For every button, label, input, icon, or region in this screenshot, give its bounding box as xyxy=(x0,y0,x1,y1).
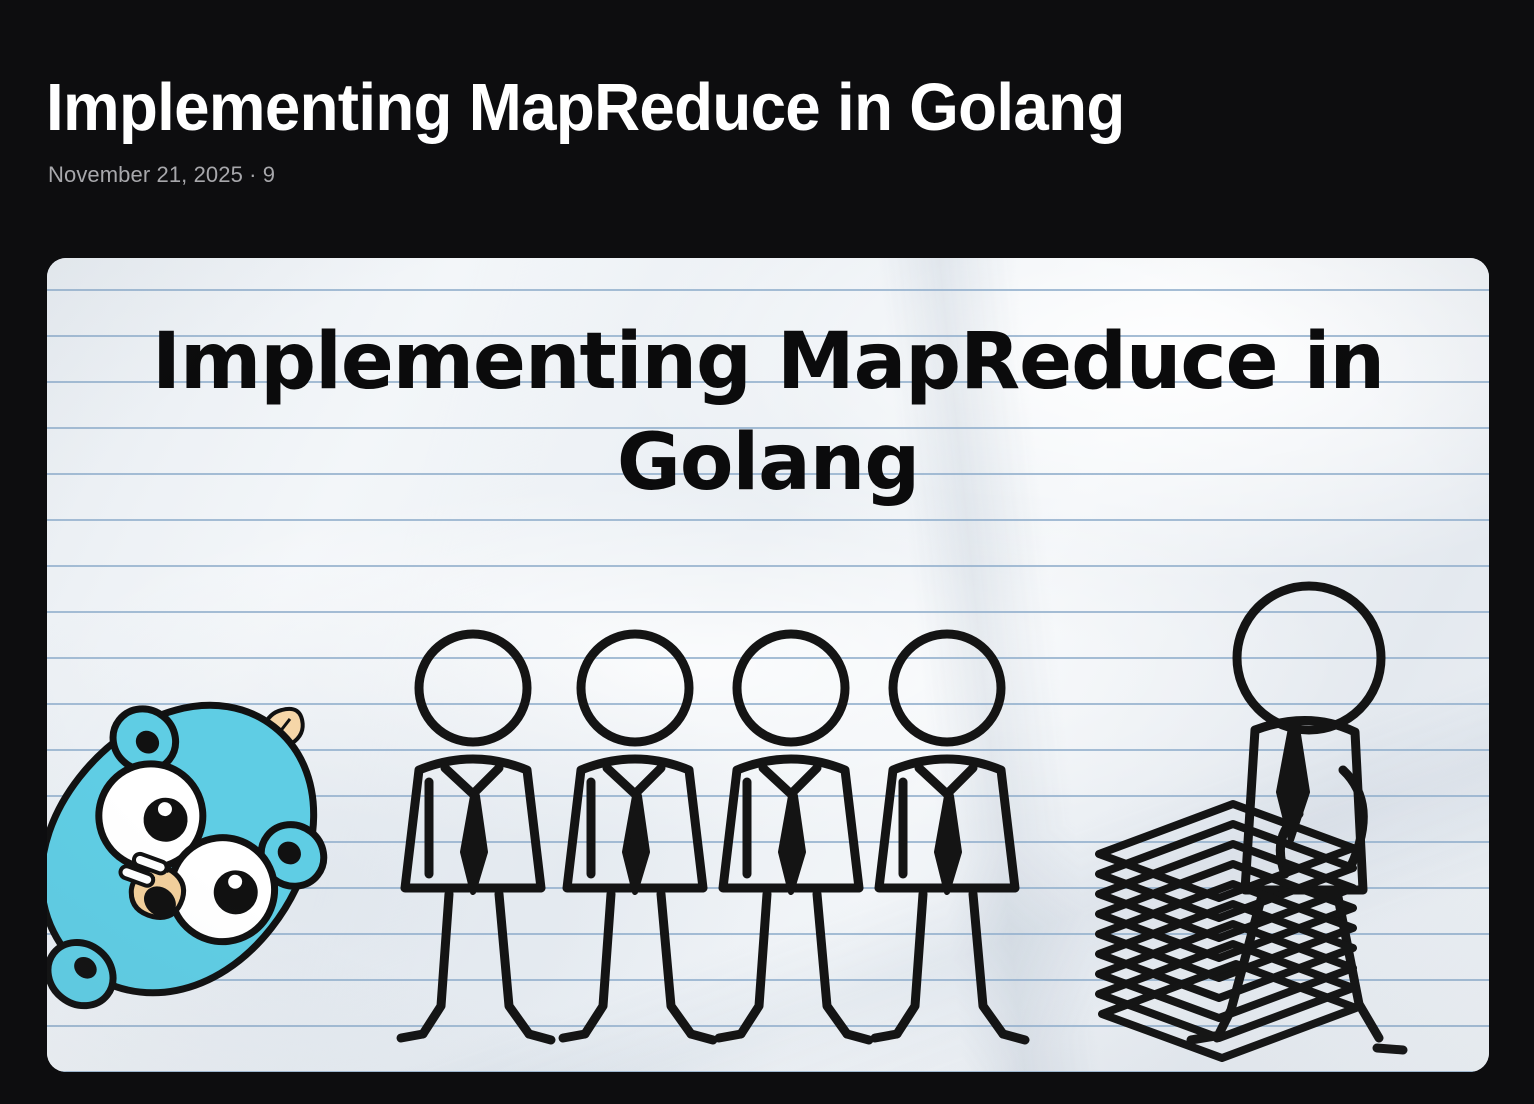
stick-figure-scene xyxy=(47,258,1489,1072)
page-title: Implementing MapReduce in Golang xyxy=(46,74,1416,142)
stick-figure-1 xyxy=(401,634,551,1040)
stick-figure-3 xyxy=(719,634,869,1040)
stick-figure-carrying-paper-stack xyxy=(1099,586,1403,1058)
stick-figure-4 xyxy=(875,634,1025,1040)
stick-figure-2 xyxy=(563,634,713,1040)
cover-artwork xyxy=(47,258,1489,1072)
cover-image-card[interactable]: Implementing MapReduce in Golang xyxy=(47,258,1489,1072)
post-meta: November 21, 2025 · 9 xyxy=(48,162,1488,188)
post-header: Implementing MapReduce in Golang Novembe… xyxy=(0,0,1534,188)
